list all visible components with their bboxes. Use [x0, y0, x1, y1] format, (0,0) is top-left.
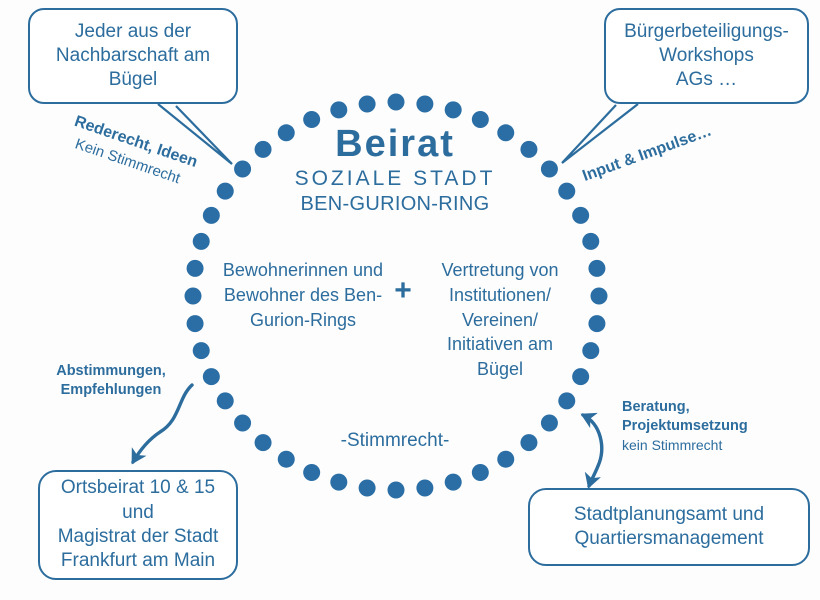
ring-dot	[572, 207, 589, 224]
ring-dot	[582, 342, 599, 359]
ring-dot	[388, 94, 405, 111]
ring-dot	[558, 183, 575, 200]
ring-dot	[203, 368, 220, 385]
ring-dot	[541, 415, 558, 432]
ring-dot	[303, 464, 320, 481]
page-subtitle-2: BEN-GURION-RING	[232, 192, 558, 217]
ring-title-block: Beirat SOZIALE STADT BEN-GURION-RING	[232, 125, 558, 217]
bubble-workshops-line-3: AGs …	[676, 68, 737, 92]
ortsbeirat-line-1: Ortsbeirat 10 & 15	[61, 476, 215, 500]
ortsbeirat-line-2: und	[122, 501, 154, 525]
ortsbeirat-line-3: Magistrat der Stadt	[58, 525, 219, 549]
ring-dot	[187, 315, 204, 332]
institutions-line-5: Initiativen	[447, 334, 523, 354]
ring-dot	[193, 233, 210, 250]
residents-line-3: des	[310, 285, 339, 305]
plus-sign: +	[389, 276, 417, 306]
members-institutions-group: Vertretung von Institutionen/ Vereinen/ …	[425, 258, 575, 382]
ring-dot	[217, 392, 234, 409]
bubble-neighbourhood-line-2: Nachbarschaft am	[56, 44, 210, 68]
ring-dot	[359, 95, 376, 112]
bubble-workshops-line-1: Bürgerbeteiligungs-	[624, 20, 789, 44]
page-title: Beirat	[232, 125, 558, 165]
box-ortsbeirat-magistrat[interactable]: Ortsbeirat 10 & 15 und Magistrat der Sta…	[38, 470, 238, 580]
ring-dot	[234, 415, 251, 432]
stadtplanung-line-2: Quartiersmanagement	[574, 527, 763, 551]
institutions-line-3: Institutionen/	[449, 285, 551, 305]
ring-dot	[520, 434, 537, 451]
ring-dot	[445, 474, 462, 491]
ring-dot	[416, 95, 433, 112]
beratung-line-1: Beratung,	[622, 398, 812, 417]
ring-dot	[416, 480, 433, 497]
institutions-line-2: von	[530, 260, 559, 280]
ring-dot	[445, 101, 462, 118]
label-abstimmungen-empfehlungen: Abstimmungen, Empfehlungen	[36, 362, 186, 400]
ring-dot	[330, 101, 347, 118]
bubble-neighbourhood-line-3: Bügel	[109, 68, 158, 92]
ring-dot	[497, 451, 514, 468]
beratung-line-3: kein Stimmrecht	[622, 436, 812, 454]
voting-right-note: -Stimmrecht-	[295, 430, 495, 452]
ring-dot	[588, 260, 605, 277]
ortsbeirat-line-4: Frankfurt am Main	[61, 549, 215, 573]
ring-dot	[472, 464, 489, 481]
ring-dot	[203, 207, 220, 224]
ring-dot	[388, 482, 405, 499]
bubble-neighbourhood-line-1: Jeder aus der	[75, 20, 191, 44]
stadtplanung-line-1: Stadtplanungsamt und	[574, 503, 764, 527]
ring-dot	[359, 480, 376, 497]
institutions-line-1: Vertretung	[441, 260, 524, 280]
institutions-line-4: Vereinen/	[462, 310, 538, 330]
ring-dot	[185, 288, 202, 305]
ring-dot	[187, 260, 204, 277]
residents-line-1: Bewohnerinnen	[223, 260, 348, 280]
bubble-workshops-line-2: Workshops	[659, 44, 754, 68]
ring-dot	[582, 233, 599, 250]
beratung-line-2: Projektumsetzung	[622, 417, 812, 436]
ring-dot	[588, 315, 605, 332]
box-stadtplanungsamt-quartiersmanagement[interactable]: Stadtplanungsamt und Quartiersmanagement	[528, 488, 810, 566]
page-subtitle-1: SOZIALE STADT	[232, 165, 558, 192]
diagram-canvas: Beirat SOZIALE STADT BEN-GURION-RING Bew…	[0, 0, 820, 600]
ring-dot	[278, 451, 295, 468]
ring-dot	[558, 392, 575, 409]
label-beratung-projektumsetzung: Beratung, Projektumsetzung kein Stimmrec…	[622, 398, 812, 454]
members-residents-group: Bewohnerinnen und Bewohner des Ben-Gurio…	[213, 258, 393, 332]
bubble-neighbourhood[interactable]: Jeder aus der Nachbarschaft am Bügel	[28, 8, 238, 104]
arrow-beratung	[583, 415, 602, 486]
ring-dot	[591, 288, 608, 305]
bubble-workshops[interactable]: Bürgerbeteiligungs- Workshops AGs …	[604, 8, 809, 104]
ring-dot	[255, 434, 272, 451]
ring-dot	[330, 474, 347, 491]
ring-dot	[193, 342, 210, 359]
